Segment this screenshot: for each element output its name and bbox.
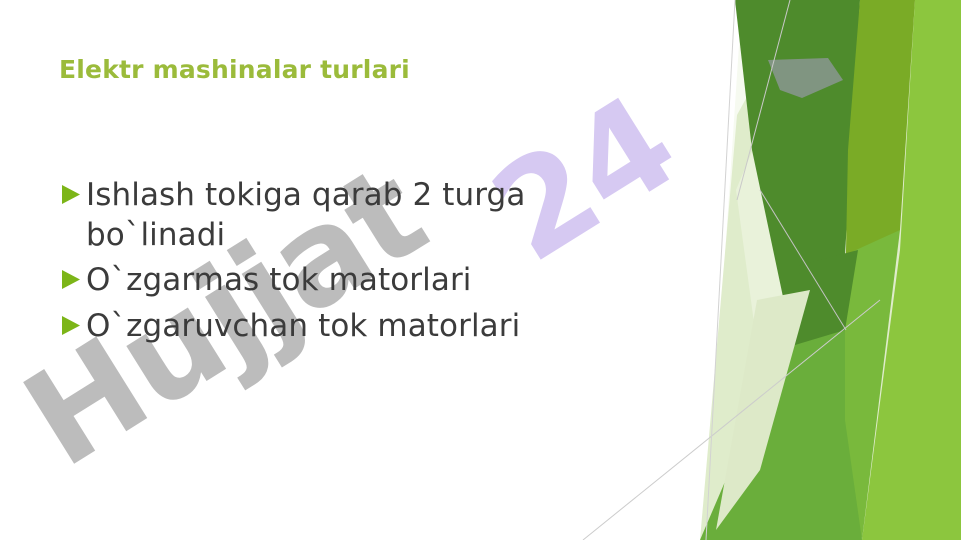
decor-pale-wash xyxy=(706,0,961,540)
decor-hairline-4 xyxy=(706,0,735,540)
triangle-right-bullet-icon xyxy=(62,307,86,335)
slide-title: Elektr mashinalar turlari xyxy=(59,55,410,85)
bullet-list: Ishlash tokiga qarab 2 turga bo`linadi O… xyxy=(62,176,662,353)
triangle-right-bullet-icon xyxy=(62,176,86,204)
decor-dark-green-apex xyxy=(795,250,858,345)
list-item-label: Ishlash tokiga qarab 2 turga bo`linadi xyxy=(86,176,621,255)
list-item: O`zgarmas tok matorlari xyxy=(62,261,662,301)
decor-pale-facet-1 xyxy=(700,0,961,540)
list-item-label: O`zgarmas tok matorlari xyxy=(86,261,662,301)
list-item-label: O`zgaruvchan tok matorlari xyxy=(86,307,662,347)
list-item: Ishlash tokiga qarab 2 turga bo`linadi xyxy=(62,176,662,255)
list-item: O`zgaruvchan tok matorlari xyxy=(62,307,662,347)
decor-hairline-2 xyxy=(760,190,846,330)
decor-hairline-1 xyxy=(737,0,790,200)
decor-mid-green-wedge xyxy=(845,230,900,540)
presentation-slide: Hujjat 24 Elektr mashinalar turlari Ishl… xyxy=(0,0,961,540)
triangle-right-bullet-icon xyxy=(62,261,86,289)
decor-mid-green-lower xyxy=(700,300,862,540)
decor-pale-facet-2 xyxy=(736,60,880,420)
decor-yellow-green-band xyxy=(845,0,915,300)
decor-dark-green-band xyxy=(735,0,860,330)
decor-bright-green-right xyxy=(862,0,961,540)
decor-grey-accent-blob xyxy=(768,58,843,98)
decor-pale-sliver-lower xyxy=(716,290,810,530)
